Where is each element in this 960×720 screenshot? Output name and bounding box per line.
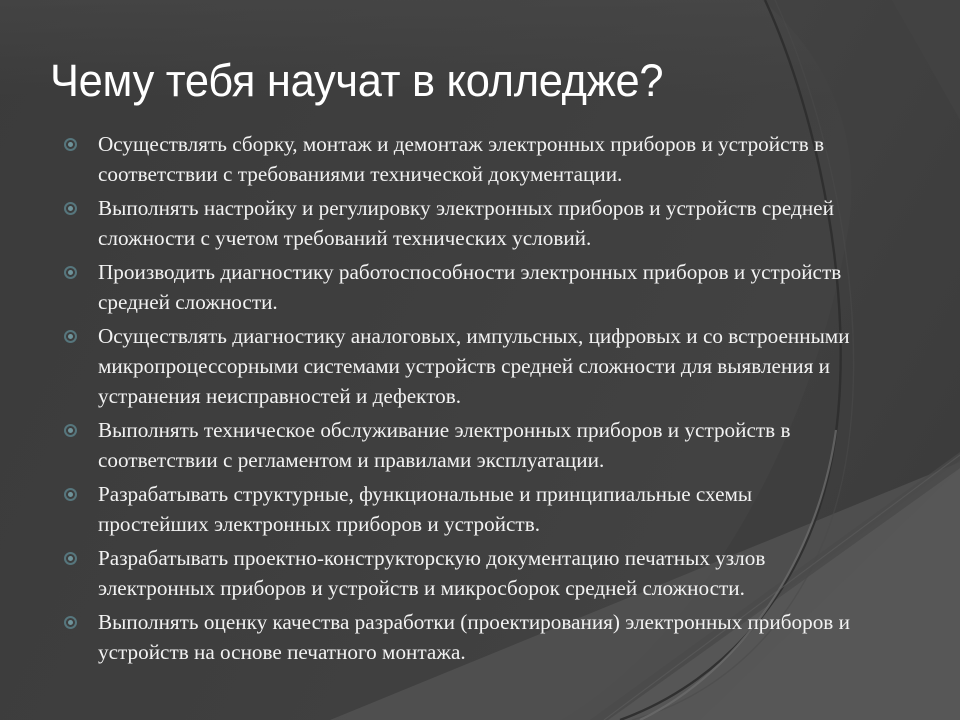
ring-dot-bullet-icon — [64, 424, 77, 437]
list-item: Выполнять оценку качества разработки (пр… — [60, 607, 890, 667]
list-item-label: Разрабатывать структурные, функциональны… — [98, 479, 858, 539]
list-item: Осуществлять диагностику аналоговых, имп… — [60, 321, 890, 411]
list-item-label: Производить диагностику работоспособност… — [98, 257, 858, 317]
ring-dot-bullet-icon — [64, 202, 77, 215]
ring-dot-bullet-icon — [64, 138, 77, 151]
ring-dot-bullet-icon — [64, 330, 77, 343]
list-item-label: Осуществлять диагностику аналоговых, имп… — [98, 321, 858, 411]
list-item: Разрабатывать проектно-конструкторскую д… — [60, 543, 890, 603]
title-block: Чему тебя научат в колледже? — [50, 55, 910, 117]
list-item: Выполнять настройку и регулировку электр… — [60, 193, 890, 253]
list-item: Производить диагностику работоспособност… — [60, 257, 890, 317]
ring-dot-bullet-icon — [64, 488, 77, 501]
slide-canvas: Чему тебя научат в колледже? Осуществлят… — [0, 0, 960, 720]
content-body: Осуществлять сборку, монтаж и демонтаж э… — [60, 129, 890, 671]
list-item-label: Разрабатывать проектно-конструкторскую д… — [98, 543, 858, 603]
ring-dot-bullet-icon — [64, 552, 77, 565]
list-item: Разрабатывать структурные, функциональны… — [60, 479, 890, 539]
ring-dot-bullet-icon — [64, 616, 77, 629]
list-item-label: Выполнять оценку качества разработки (пр… — [98, 607, 858, 667]
bullet-list: Осуществлять сборку, монтаж и демонтаж э… — [60, 129, 890, 667]
list-item-label: Выполнять настройку и регулировку электр… — [98, 193, 858, 253]
page-title: Чему тебя научат в колледже? — [50, 55, 880, 107]
list-item: Осуществлять сборку, монтаж и демонтаж э… — [60, 129, 890, 189]
ring-dot-bullet-icon — [64, 266, 77, 279]
list-item: Выполнять техническое обслуживание элект… — [60, 415, 890, 475]
list-item-label: Осуществлять сборку, монтаж и демонтаж э… — [98, 129, 858, 189]
list-item-label: Выполнять техническое обслуживание элект… — [98, 415, 858, 475]
